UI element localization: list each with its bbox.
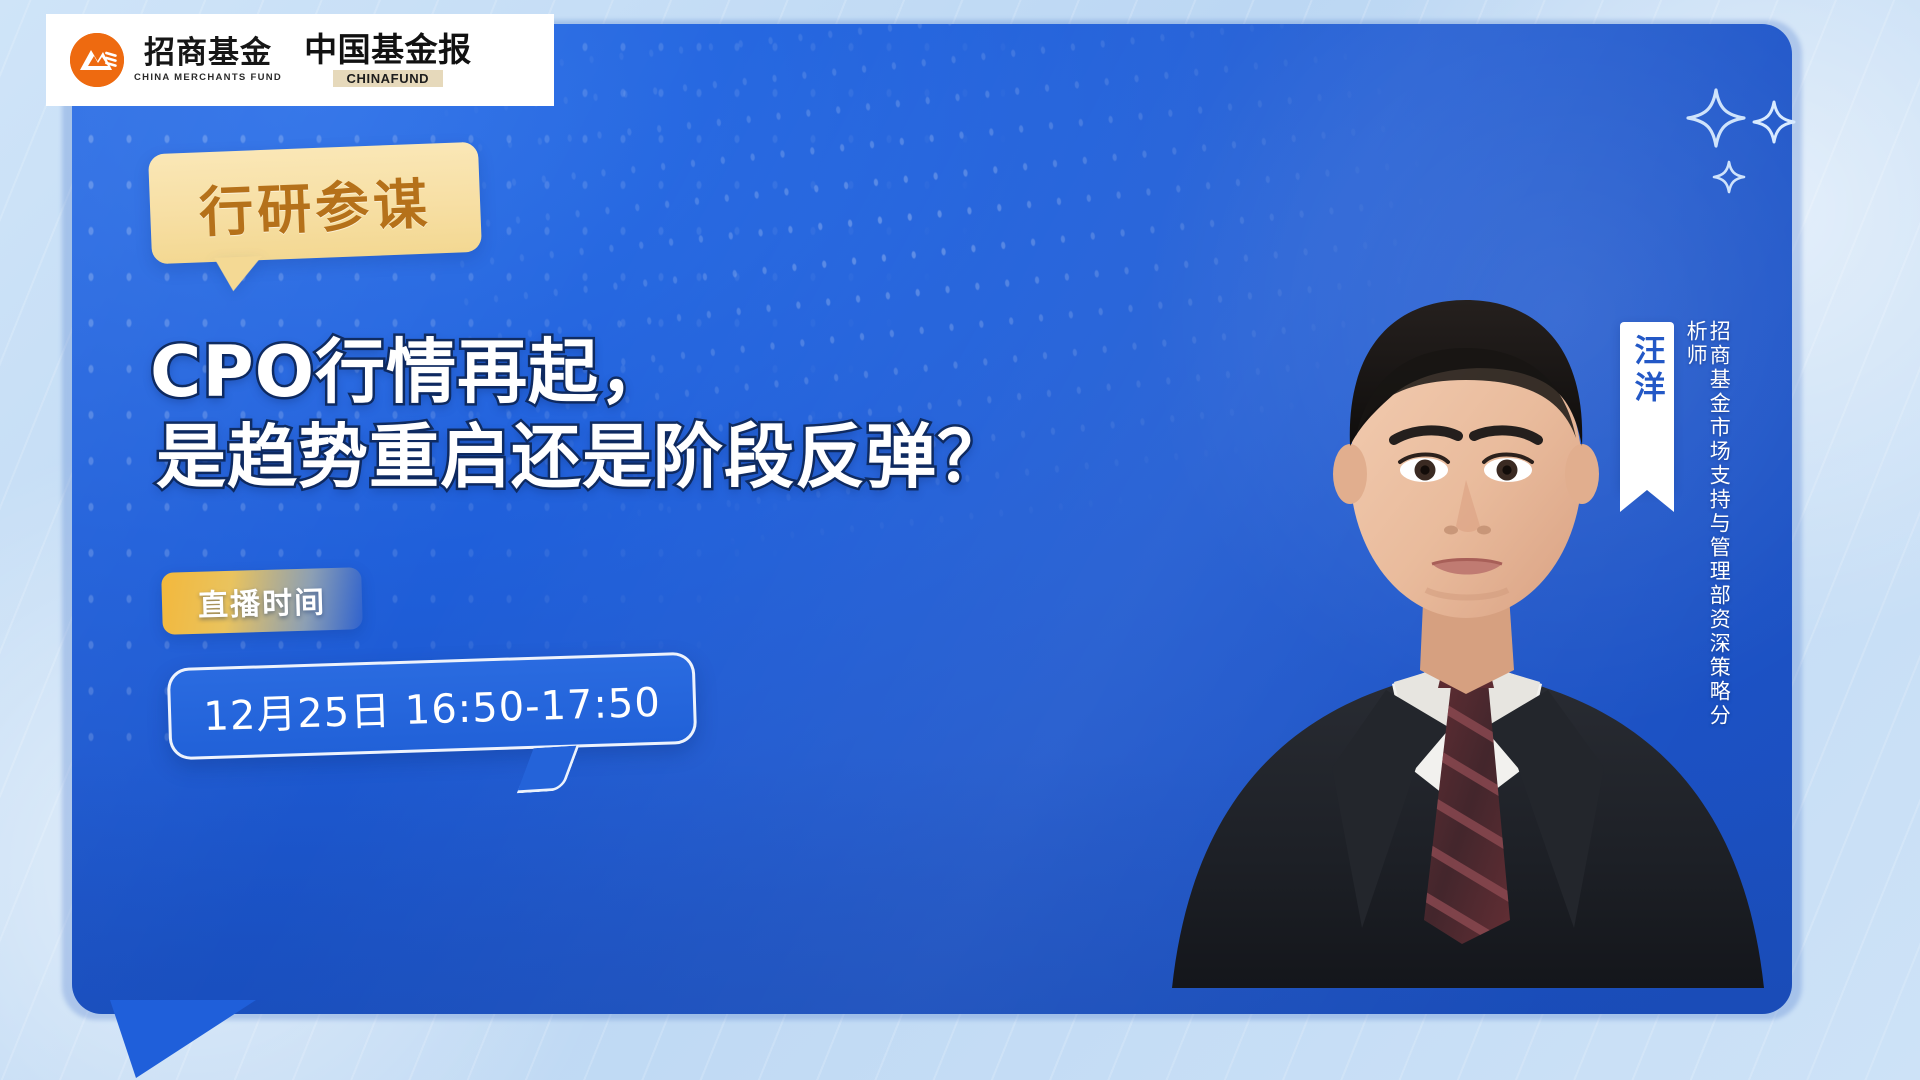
- live-time-label-badge: 直播时间: [162, 570, 362, 632]
- speaker-name: 汪洋: [1625, 334, 1670, 408]
- column-badge: 行研参谋: [150, 148, 480, 258]
- speaker-name-tag: 汪洋: [1620, 322, 1674, 490]
- outer-speech-tail: [110, 1000, 256, 1078]
- logo-bar: 招商基金 CHINA MERCHANTS FUND 中国基金报 CHINAFUN…: [46, 14, 554, 106]
- china-merchants-fund-logo: 招商基金 CHINA MERCHANTS FUND: [70, 33, 282, 87]
- column-badge-tail: [214, 256, 263, 292]
- title-line-2: 是趋势重启还是阶段反弹？: [156, 415, 1110, 500]
- poster-title: CPO行情再起， 是趋势重启还是阶段反弹？: [150, 330, 1110, 501]
- chinafund-logo: 中国基金报 CHINAFUND: [304, 33, 472, 87]
- chinafund-name-en: CHINAFUND: [333, 70, 444, 87]
- sparkle-icon: [1752, 100, 1796, 144]
- poster-canvas: 汪洋 招商基金市场支持与管理部资深策略分析师 行研参谋 CPO行情再起， 是趋势…: [0, 0, 1920, 1080]
- china-merchants-fund-mark-icon: [70, 33, 124, 87]
- speaker-credential-block: 招商基金市场支持与管理部资深策略分析师: [1684, 320, 1730, 740]
- speaker-credential: 招商基金市场支持与管理部资深策略分析师: [1684, 320, 1730, 740]
- cmf-name-cn: 招商基金: [144, 37, 272, 70]
- speaker-name-tag-notch: [1620, 490, 1674, 512]
- live-time-label: 直播时间: [197, 577, 326, 625]
- title-line-1: CPO行情再起，: [150, 330, 1110, 415]
- sparkle-icon: [1686, 88, 1746, 148]
- sparkle-icon: [1712, 160, 1746, 194]
- cmf-name-en: CHINA MERCHANTS FUND: [134, 72, 282, 83]
- live-time-bubble: 12月25日 16:50-17:50: [168, 660, 696, 752]
- chinafund-name-cn: 中国基金报: [304, 33, 472, 68]
- column-badge-label: 行研参谋: [148, 142, 482, 265]
- live-time-value: 12月25日 16:50-17:50: [202, 670, 661, 742]
